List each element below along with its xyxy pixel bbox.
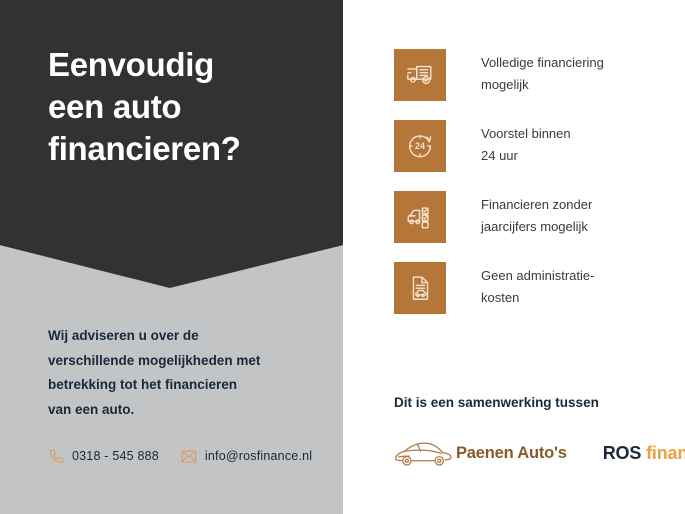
feature-2-line-1: Voorstel binnen bbox=[481, 123, 571, 145]
feature-3-line-1: Financieren zonder bbox=[481, 194, 592, 216]
contact-row: 0318 - 545 888 info@rosfinance.nl bbox=[48, 448, 334, 464]
phone-number: 0318 - 545 888 bbox=[72, 449, 159, 463]
ros-wordmark: ROS bbox=[603, 443, 641, 463]
paenen-autos-logo[interactable]: Paenen Auto's bbox=[394, 436, 567, 470]
feature-4-line-2: kosten bbox=[481, 287, 594, 309]
headline-line-2: een auto bbox=[48, 86, 328, 128]
feature-label: Financieren zonder jaarcijfers mogelijk bbox=[481, 191, 592, 238]
delivery-van-check-icon bbox=[394, 49, 446, 101]
feature-item: Volledige financiering mogelijk bbox=[394, 49, 674, 101]
lead-line-3: betrekking tot het financieren bbox=[48, 373, 316, 398]
feature-item: Financieren zonder jaarcijfers mogelijk bbox=[394, 191, 674, 243]
feature-item: Geen administratie- kosten bbox=[394, 262, 674, 314]
email-address: info@rosfinance.nl bbox=[205, 449, 312, 463]
document-car-icon bbox=[394, 262, 446, 314]
feature-list: Volledige financiering mogelijk 24 Voors… bbox=[394, 49, 674, 333]
left-column: Eenvoudig een auto financieren? Wij advi… bbox=[0, 0, 343, 514]
lead-line-1: Wij adviseren u over de bbox=[48, 324, 316, 349]
svg-text:24: 24 bbox=[415, 141, 425, 151]
partner-heading: Dit is een samenwerking tussen bbox=[394, 395, 599, 410]
feature-3-line-2: jaarcijfers mogelijk bbox=[481, 216, 592, 238]
advertisement-poster: Eenvoudig een auto financieren? Wij advi… bbox=[0, 0, 685, 514]
lead-line-4: van een auto. bbox=[48, 398, 316, 423]
partner-logos-row: Paenen Auto's ROSfinance bbox=[394, 436, 685, 470]
lead-paragraph: Wij adviseren u over de verschillende mo… bbox=[48, 324, 316, 422]
feature-label: Volledige financiering mogelijk bbox=[481, 49, 604, 96]
clock-24-hours-icon: 24 bbox=[394, 120, 446, 172]
right-column: Volledige financiering mogelijk 24 Voors… bbox=[343, 0, 685, 514]
car-outline-logo-icon bbox=[394, 436, 452, 470]
ros-finance-logo[interactable]: ROSfinance bbox=[603, 443, 685, 464]
phone-icon bbox=[48, 448, 64, 464]
lead-line-2: verschillende mogelijkheden met bbox=[48, 349, 316, 374]
headline-line-3: financieren? bbox=[48, 128, 328, 170]
feature-4-line-1: Geen administratie- bbox=[481, 265, 594, 287]
paenen-autos-wordmark: Paenen Auto's bbox=[456, 444, 567, 463]
contact-email[interactable]: info@rosfinance.nl bbox=[181, 448, 312, 464]
page-title: Eenvoudig een auto financieren? bbox=[48, 44, 328, 170]
headline-line-1: Eenvoudig bbox=[48, 44, 328, 86]
feature-label: Voorstel binnen 24 uur bbox=[481, 120, 571, 167]
feature-label: Geen administratie- kosten bbox=[481, 262, 594, 309]
contact-phone[interactable]: 0318 - 545 888 bbox=[48, 448, 159, 464]
feature-2-line-2: 24 uur bbox=[481, 145, 571, 167]
feature-1-line-2: mogelijk bbox=[481, 74, 604, 96]
finance-wordmark: finance bbox=[646, 443, 685, 463]
envelope-icon bbox=[181, 448, 197, 464]
feature-item: 24 Voorstel binnen 24 uur bbox=[394, 120, 674, 172]
car-checklist-icon bbox=[394, 191, 446, 243]
feature-1-line-1: Volledige financiering bbox=[481, 52, 604, 74]
